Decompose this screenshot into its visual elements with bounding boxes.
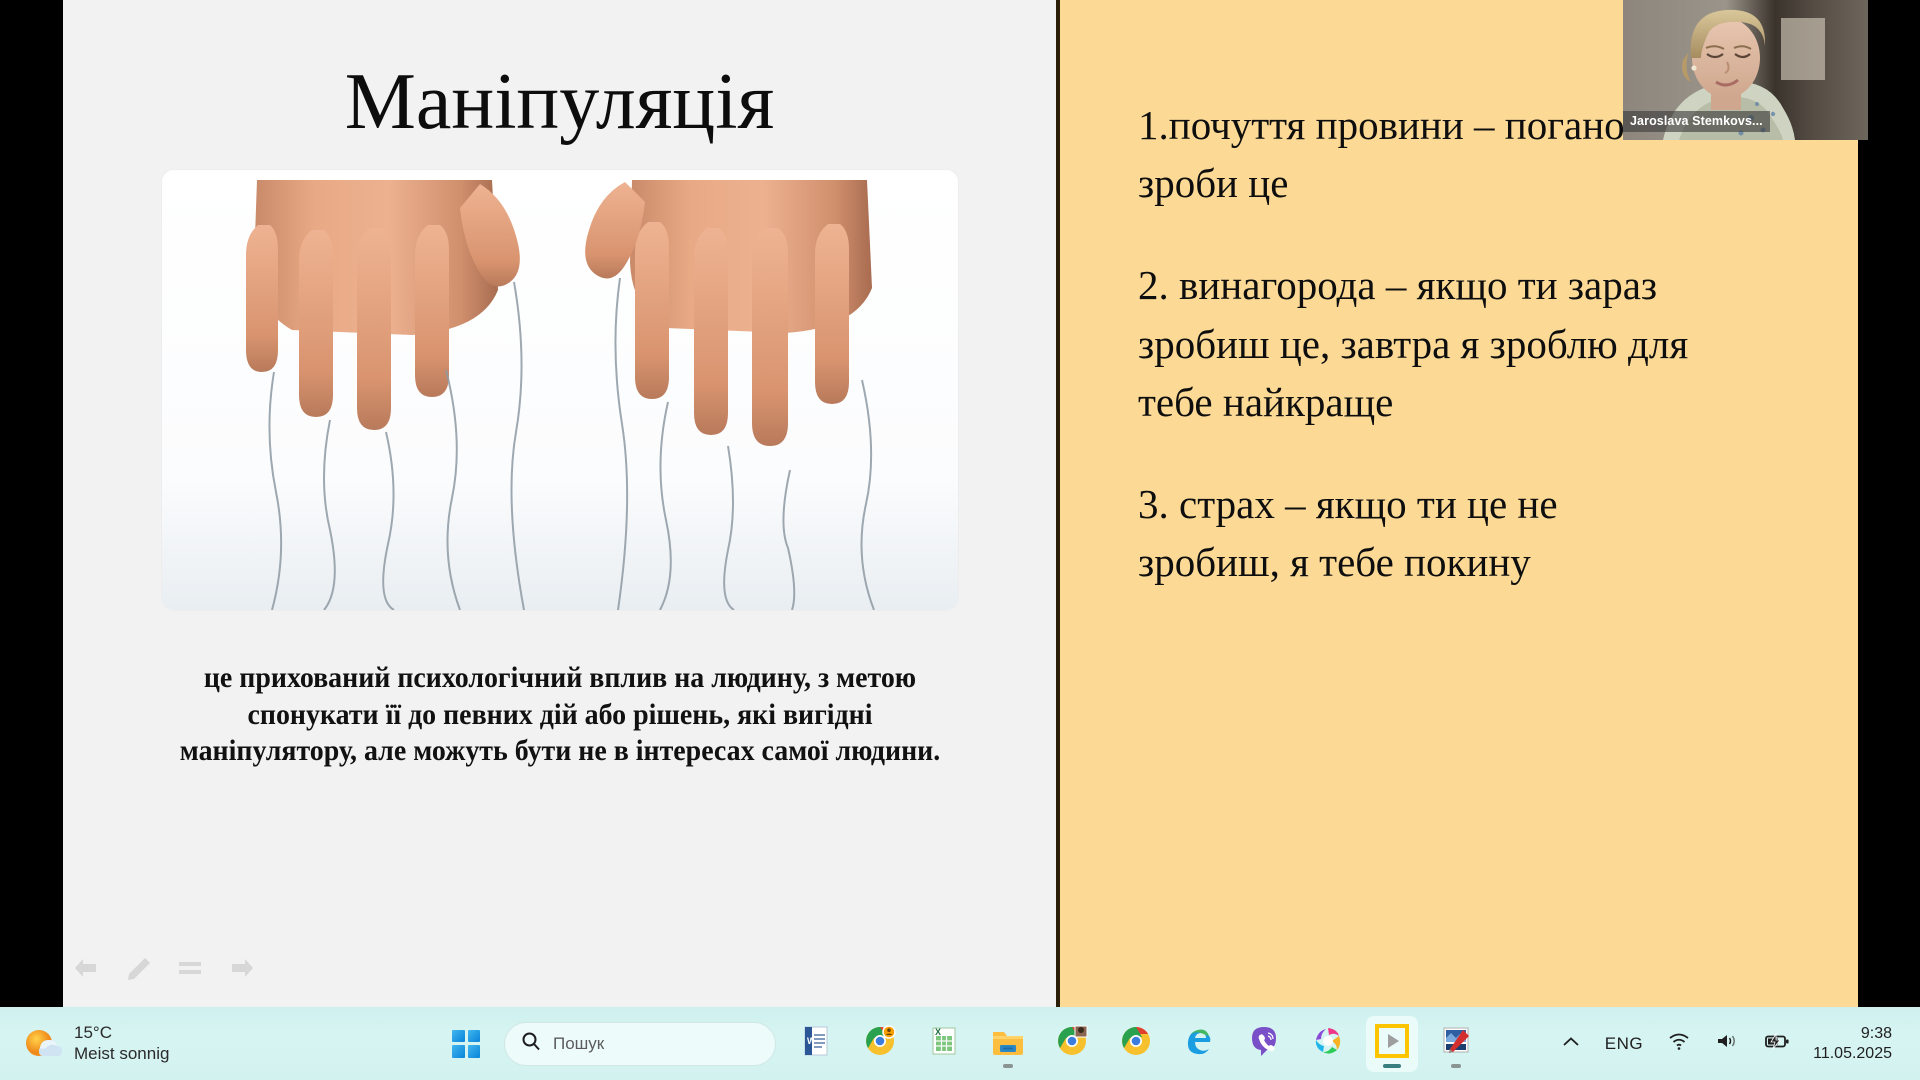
taskbar-app-paint[interactable] — [1430, 1016, 1482, 1072]
webcam-video-tile[interactable]: Jaroslava Stemkovs... — [1623, 0, 1868, 140]
svg-text:X: X — [935, 1027, 941, 1037]
pen-icon[interactable] — [123, 955, 153, 981]
excel-icon: X — [927, 1024, 961, 1063]
search-placeholder: Пошук — [553, 1034, 604, 1054]
chrome-icon — [1119, 1024, 1153, 1063]
language-indicator[interactable]: ENG — [1593, 1021, 1655, 1067]
photos-icon — [1311, 1024, 1345, 1063]
hands-puppet-strings-image — [162, 170, 958, 610]
viber-icon — [1247, 1024, 1281, 1063]
taskbar-app-viber[interactable] — [1238, 1016, 1290, 1072]
weather-condition: Meist sonnig — [74, 1044, 169, 1065]
menu-icon[interactable] — [175, 955, 205, 981]
system-tray: ENG — [1549, 1007, 1920, 1080]
battery-button[interactable] — [1751, 1021, 1803, 1067]
network-button[interactable] — [1655, 1021, 1703, 1067]
edge-legacy-icon — [1183, 1024, 1217, 1063]
taskbar-app-word[interactable]: W — [790, 1016, 842, 1072]
search-input[interactable]: Пошук — [504, 1022, 776, 1066]
chrome-profile-icon — [863, 1024, 897, 1063]
taskbar-app-media-player[interactable] — [1366, 1016, 1418, 1072]
sun-cloud-icon — [22, 1024, 62, 1064]
clock-time: 9:38 — [1813, 1024, 1892, 1043]
folder-icon — [990, 1024, 1026, 1063]
taskbar-app-chrome-profile[interactable] — [854, 1016, 906, 1072]
arrow-right-icon[interactable] — [227, 955, 257, 981]
media-player-icon — [1374, 1023, 1410, 1064]
arrow-left-icon[interactable] — [71, 955, 101, 981]
slide[interactable]: Маніпуляція — [63, 0, 1858, 1007]
clock[interactable]: 9:38 11.05.2025 — [1803, 1024, 1906, 1062]
running-indicator — [1451, 1064, 1461, 1068]
slide-caption: це прихований психологічний вплив на люд… — [155, 660, 964, 770]
language-label: ENG — [1605, 1034, 1643, 1054]
taskbar-app-chrome[interactable] — [1110, 1016, 1162, 1072]
battery-charging-icon — [1763, 1031, 1791, 1056]
slide-title: Маніпуляція — [345, 62, 775, 142]
paint-icon — [1439, 1024, 1473, 1063]
search-icon — [521, 1031, 541, 1056]
taskbar-app-chrome-person[interactable] — [1046, 1016, 1098, 1072]
taskbar-center-group: Пошук W — [438, 1016, 1482, 1072]
start-button[interactable] — [438, 1016, 494, 1072]
weather-text: 15°C Meist sonnig — [74, 1023, 169, 1064]
tray-overflow-button[interactable] — [1549, 1021, 1593, 1067]
slideshow-controls[interactable] — [71, 955, 257, 981]
taskbar-app-icons: W — [790, 1016, 1482, 1072]
clock-date: 11.05.2025 — [1813, 1044, 1892, 1063]
windows-taskbar[interactable]: 15°C Meist sonnig Пошук — [0, 1007, 1920, 1080]
manipulation-point-1: 1.почуття провини – погано – зроби це — [1138, 96, 1698, 212]
weather-widget[interactable]: 15°C Meist sonnig — [22, 1023, 322, 1064]
presentation-fullscreen[interactable]: Маніпуляція — [0, 0, 1920, 1007]
chevron-up-icon — [1561, 1035, 1581, 1053]
running-indicator — [1003, 1064, 1013, 1068]
webcam-participant-name: Jaroslava Stemkovs... — [1623, 111, 1770, 132]
taskbar-app-file-explorer[interactable] — [982, 1016, 1034, 1072]
manipulation-point-2: 2. винагорода – якщо ти зараз зробиш це,… — [1138, 256, 1698, 431]
svg-text:W: W — [807, 1036, 816, 1046]
slide-right-panel: 1.почуття провини – погано – зроби це 2.… — [1056, 0, 1858, 1007]
running-indicator — [1383, 1064, 1401, 1068]
volume-button[interactable] — [1703, 1021, 1751, 1067]
taskbar-app-photos[interactable] — [1302, 1016, 1354, 1072]
windows-logo-icon — [452, 1030, 480, 1058]
word-icon: W — [799, 1024, 833, 1063]
taskbar-app-internet-explorer[interactable] — [1174, 1016, 1226, 1072]
hands-illustration — [162, 170, 958, 610]
weather-temperature: 15°C — [74, 1023, 169, 1044]
speaker-icon — [1715, 1031, 1739, 1056]
wifi-icon — [1667, 1031, 1691, 1056]
taskbar-app-excel[interactable]: X — [918, 1016, 970, 1072]
chrome-person-icon — [1055, 1024, 1089, 1063]
slide-left-panel: Маніпуляція — [63, 0, 1056, 1007]
manipulation-point-3: 3. страх – якщо ти це не зробиш, я тебе … — [1138, 475, 1698, 591]
